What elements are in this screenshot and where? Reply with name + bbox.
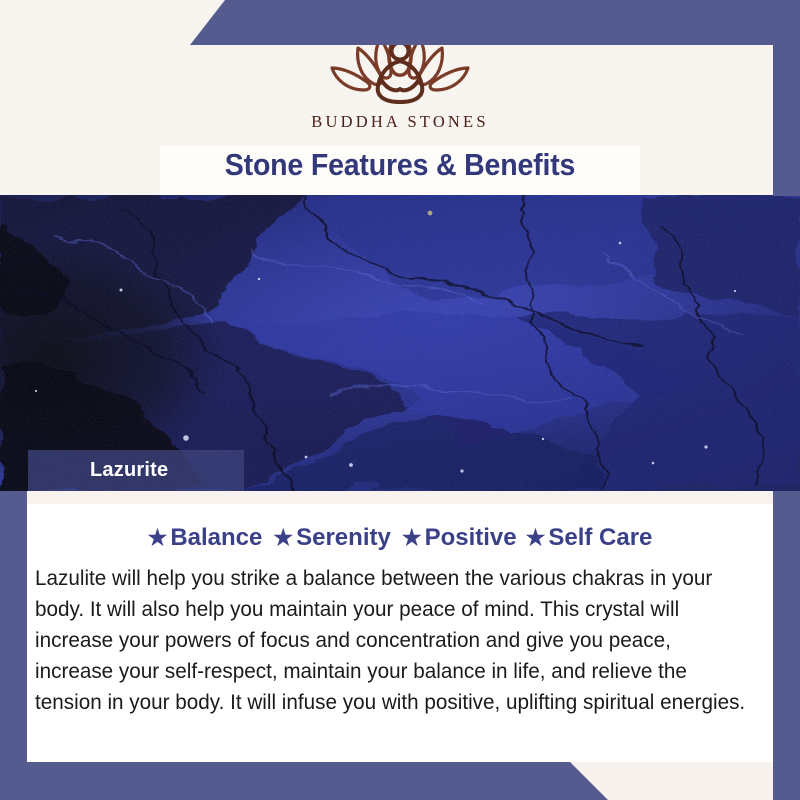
lazurite-stone-photo <box>0 195 800 491</box>
stone-name-label: Lazurite <box>90 459 168 482</box>
poster-root: BUDDHA STONES Stone Features & Benefits <box>0 0 800 800</box>
frame-right-bottom <box>773 491 800 800</box>
feature-label: Self Care <box>548 524 652 551</box>
frame-right-top <box>773 0 800 196</box>
feature-label: Positive <box>425 524 517 551</box>
star-icon: ★ <box>273 525 293 550</box>
star-icon: ★ <box>526 525 546 550</box>
features-list: ★Balance★Serenity★Positive★Self Care <box>27 524 773 552</box>
feature-item-positive: ★Positive <box>402 524 517 552</box>
feature-item-self-care: ★Self Care <box>526 524 653 552</box>
panel-top-strip <box>27 491 773 504</box>
frame-left-bottom <box>0 491 27 800</box>
description-text: Lazulite will help you strike a balance … <box>35 563 754 718</box>
brand-name: BUDDHA STONES <box>0 112 800 132</box>
star-icon: ★ <box>148 525 168 550</box>
stone-name-banner: Lazurite <box>28 450 244 491</box>
stone-texture-graphic <box>0 195 800 491</box>
feature-item-balance: ★Balance <box>148 524 263 552</box>
feature-label: Balance <box>170 524 262 551</box>
star-icon: ★ <box>402 525 422 550</box>
content-panel: ★Balance★Serenity★Positive★Self Care Laz… <box>27 491 773 762</box>
feature-label: Serenity <box>296 524 391 551</box>
page-title: Stone Features & Benefits <box>32 147 768 183</box>
feature-item-serenity: ★Serenity <box>273 524 390 552</box>
